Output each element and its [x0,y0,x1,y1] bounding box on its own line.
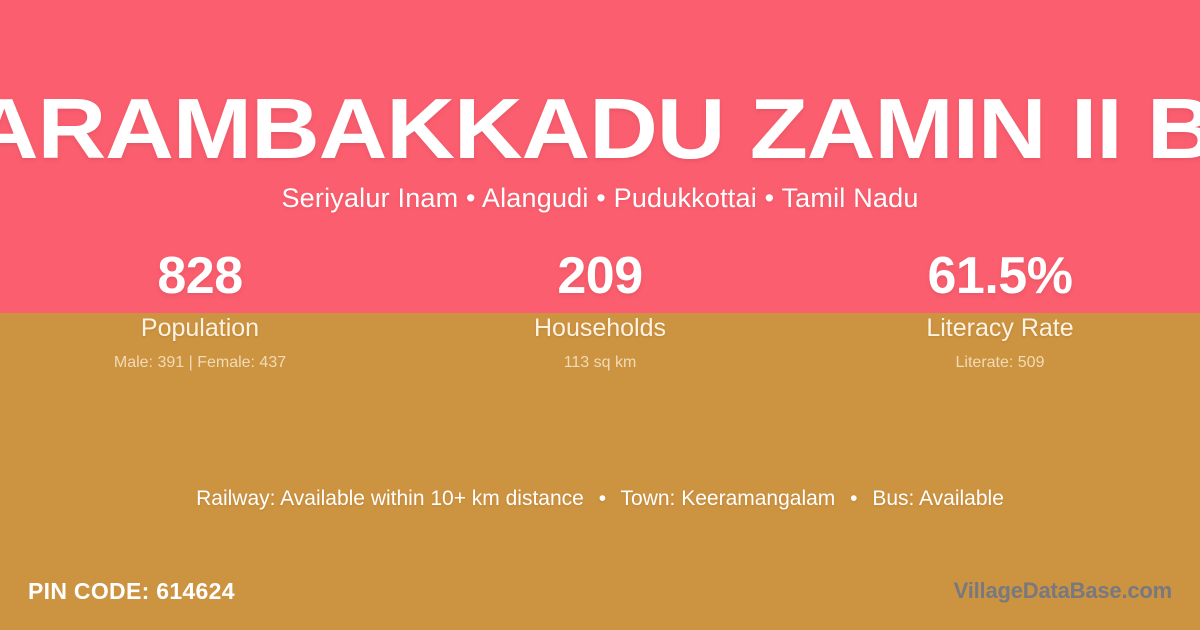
village-info-card: KARAMBAKKADU ZAMIN II BIT Seriyalur Inam… [0,0,1200,630]
location-breadcrumb: Seriyalur Inam • Alangudi • Pudukkottai … [0,183,1200,214]
page-title: KARAMBAKKADU ZAMIN II BIT [0,87,1200,172]
stat-sublabel: Literate: 509 [800,353,1200,373]
facility-separator-2: • [841,487,866,510]
facility-separator-1: • [590,487,615,510]
stat-value: 61.5% [800,245,1200,307]
stat-value: 209 [400,245,800,307]
brand-watermark: VillageDataBase.com [954,578,1172,604]
stat-literacy-rate: 61.5% Literacy Rate Literate: 509 [800,245,1200,373]
stat-households: 209 Households 113 sq km [400,245,800,373]
stat-label: Households [400,313,800,343]
stat-sublabel: Male: 391 | Female: 437 [0,353,400,373]
stat-sublabel: 113 sq km [400,353,800,373]
facilities-line: Railway: Available within 10+ km distanc… [0,485,1200,513]
page-title-container: KARAMBAKKADU ZAMIN II BIT [0,83,1200,175]
facility-railway: Railway: Available within 10+ km distanc… [196,487,584,510]
stat-label: Population [0,313,400,343]
footer-bar: PIN CODE: 614624 VillageDataBase.com [0,552,1200,630]
stat-label: Literacy Rate [800,313,1200,343]
stat-value: 828 [0,245,400,307]
facility-bus: Bus: Available [872,487,1004,510]
stats-row: 828 Population Male: 391 | Female: 437 2… [0,245,1200,373]
facility-town: Town: Keeramangalam [621,487,836,510]
stat-population: 828 Population Male: 391 | Female: 437 [0,245,400,373]
pin-code: PIN CODE: 614624 [28,578,235,605]
